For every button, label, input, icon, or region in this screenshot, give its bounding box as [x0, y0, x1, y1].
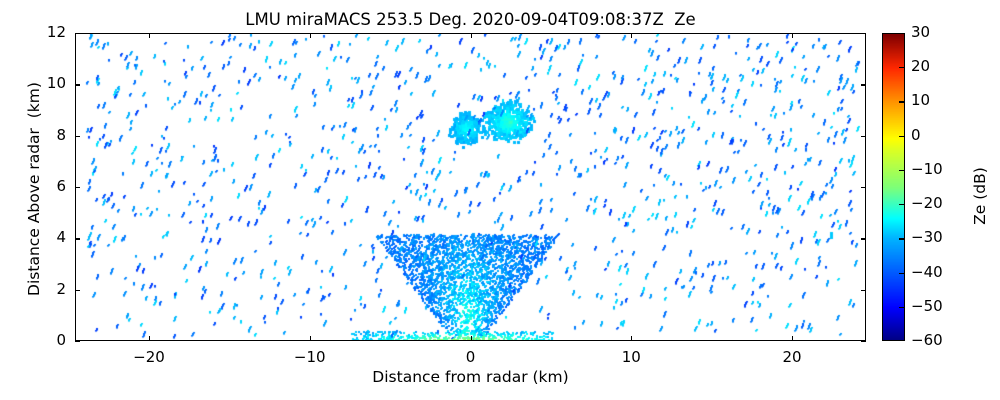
colorbar-label: Ze (dB)	[971, 96, 989, 296]
y-tick-mark	[861, 84, 866, 85]
colorbar-tick-label: 10	[911, 91, 930, 109]
x-tick-mark	[149, 33, 150, 38]
colorbar-tick-mark	[899, 340, 904, 341]
colorbar-tick-mark	[899, 170, 904, 171]
y-tick-mark	[75, 33, 80, 34]
x-tick-mark	[310, 336, 311, 341]
colorbar-tick-mark	[899, 307, 904, 308]
x-tick-mark	[310, 33, 311, 38]
colorbar-tick-mark	[899, 101, 904, 102]
colorbar-tick-mark	[899, 238, 904, 239]
colorbar-gradient	[883, 34, 905, 341]
y-tick-mark	[75, 187, 80, 188]
y-tick-mark	[75, 84, 80, 85]
colorbar-tick-mark	[899, 204, 904, 205]
x-tick-label: −20	[109, 348, 189, 366]
scatter-plot-canvas	[76, 34, 866, 341]
x-tick-label: 0	[431, 348, 511, 366]
x-tick-mark	[631, 336, 632, 341]
colorbar-tick-label: −20	[911, 194, 943, 212]
colorbar-tick-mark	[899, 33, 904, 34]
colorbar-tick-label: −30	[911, 228, 943, 246]
plot-area	[75, 33, 866, 341]
colorbar-tick-mark	[899, 136, 904, 137]
figure-canvas: LMU miraMACS 253.5 Deg. 2020-09-04T09:08…	[0, 0, 1000, 400]
colorbar-tick-label: 20	[911, 57, 930, 75]
y-tick-mark	[75, 238, 80, 239]
colorbar-tick-label: −50	[911, 297, 943, 315]
y-tick-mark	[75, 341, 80, 342]
y-tick-mark	[861, 341, 866, 342]
colorbar-tick-mark	[899, 273, 904, 274]
y-tick-mark	[861, 238, 866, 239]
colorbar	[882, 33, 905, 341]
y-axis-label: Distance Above radar (km)	[25, 34, 43, 344]
y-tick-mark	[861, 187, 866, 188]
x-tick-mark	[149, 336, 150, 341]
x-tick-mark	[471, 336, 472, 341]
x-tick-mark	[792, 33, 793, 38]
x-tick-mark	[471, 33, 472, 38]
colorbar-tick-label: −10	[911, 160, 943, 178]
x-axis-label: Distance from radar (km)	[75, 368, 866, 386]
colorbar-tick-label: 30	[911, 23, 930, 41]
colorbar-tick-mark	[899, 67, 904, 68]
colorbar-tick-label: −40	[911, 263, 943, 281]
colorbar-tick-label: −60	[911, 331, 943, 349]
y-tick-mark	[75, 290, 80, 291]
x-tick-label: −10	[270, 348, 350, 366]
y-tick-mark	[861, 290, 866, 291]
y-tick-mark	[75, 136, 80, 137]
y-tick-mark	[861, 136, 866, 137]
y-tick-mark	[861, 33, 866, 34]
colorbar-tick-label: 0	[911, 126, 921, 144]
x-tick-mark	[792, 336, 793, 341]
x-tick-label: 10	[591, 348, 671, 366]
page-title: LMU miraMACS 253.5 Deg. 2020-09-04T09:08…	[75, 10, 866, 30]
x-tick-mark	[631, 33, 632, 38]
x-tick-label: 20	[752, 348, 832, 366]
